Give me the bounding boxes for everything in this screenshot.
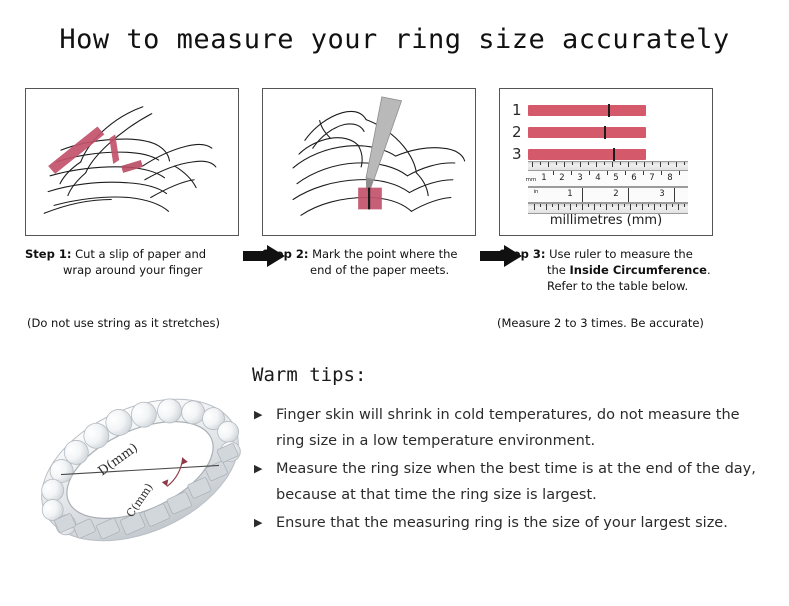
step-2-label: Step 2: <box>262 247 308 261</box>
paper-strip <box>528 127 646 138</box>
strip-mark <box>613 148 615 161</box>
step-3-label: Step 3: <box>499 247 545 261</box>
ruler-cm-tick: 1 <box>541 173 546 183</box>
strip-number: 2 <box>512 123 528 141</box>
ruler-cm-tick: 3 <box>577 173 582 183</box>
ruler-cm-tick: 2 <box>559 173 564 183</box>
step-2-column: Step 2: Mark the point where the end of … <box>262 88 478 278</box>
step-3-line2-suffix: . <box>707 263 711 277</box>
step-3-panel: 1 2 3 <box>499 88 713 236</box>
ring-diagram: D(mm) C(mm) <box>24 358 256 582</box>
step-2-caption: Step 2: Mark the point where the end of … <box>262 246 478 278</box>
step-1-line1: Cut a slip of paper and <box>75 247 206 261</box>
ruler-graphic: mm 1 2 3 4 5 6 7 8 <box>528 161 688 214</box>
bullet-icon: ▶ <box>254 402 262 428</box>
ruler-cm-tick: 7 <box>649 173 654 183</box>
step-3-line1: Use ruler to measure the <box>549 247 693 261</box>
tip-text: Measure the ring size when the best time… <box>276 461 756 503</box>
ruler-inch-tick: 1 <box>567 189 572 199</box>
ruler-inch-band: in 1 2 3 <box>528 187 688 203</box>
steps-row: Step 1: Cut a slip of paper and wrap aro… <box>0 88 789 348</box>
step-1-panel <box>25 88 239 236</box>
measure-illustration: 1 2 3 <box>500 89 712 235</box>
strip-row: 2 <box>512 123 646 141</box>
ruler-cm-tick: 8 <box>667 173 672 183</box>
tip-item: ▶ Measure the ring size when the best ti… <box>252 456 772 508</box>
step-3-note: (Measure 2 to 3 times. Be accurate) <box>497 316 704 330</box>
bullet-icon: ▶ <box>254 510 262 536</box>
inside-circumference-term: Inside Circumference <box>570 263 707 277</box>
ruler-cm-tick: 5 <box>613 173 618 183</box>
step-3-caption: Step 3: Use ruler to measure the the Ins… <box>499 246 715 294</box>
ruler-inch-tick: 2 <box>613 189 618 199</box>
page-title: How to measure your ring size accurately <box>0 24 789 55</box>
ruler-unit-label: in <box>533 189 538 195</box>
strip-row: 1 <box>512 101 646 119</box>
hand-marking-paper-illustration <box>263 89 475 235</box>
strip-number: 1 <box>512 101 528 119</box>
ruler-top-band <box>528 161 688 171</box>
step-3-line2-prefix: the <box>547 263 570 277</box>
tip-item: ▶ Finger skin will shrink in cold temper… <box>252 402 772 454</box>
ring-illustration: D(mm) C(mm) <box>24 358 256 582</box>
step-2-panel <box>262 88 476 236</box>
step-1-caption: Step 1: Cut a slip of paper and wrap aro… <box>25 246 241 278</box>
ruler-cm-tick: 4 <box>595 173 600 183</box>
paper-strip <box>528 149 646 160</box>
ruler-inch-tick: 3 <box>659 189 664 199</box>
warm-tips-block: Warm tips: ▶ Finger skin will shrink in … <box>252 364 772 538</box>
step-3-line3: Refer to the table below. <box>499 278 715 294</box>
step-2-line1: Mark the point where the <box>312 247 457 261</box>
ruler-cm-tick: 6 <box>631 173 636 183</box>
step-1-column: Step 1: Cut a slip of paper and wrap aro… <box>25 88 241 278</box>
step-3-line2: the Inside Circumference. <box>499 262 715 278</box>
paper-strip <box>528 105 646 116</box>
step-3-column: 1 2 3 <box>499 88 715 294</box>
bottom-section: D(mm) C(mm) Warm tips: ▶ Finger skin wil… <box>0 350 789 606</box>
step-2-line2: end of the paper meets. <box>262 262 478 278</box>
bullet-icon: ▶ <box>254 456 262 482</box>
paper-strip-shape <box>358 188 382 210</box>
pen-shape <box>366 97 402 192</box>
ruler-unit-label: mm <box>526 177 537 183</box>
step-1-note: (Do not use string as it stretches) <box>27 316 220 330</box>
strip-mark <box>604 126 606 139</box>
strip-mark <box>608 104 610 117</box>
step-1-line2: wrap around your finger <box>25 262 241 278</box>
ruler-cm-band: mm 1 2 3 4 5 6 7 8 <box>528 171 688 187</box>
strip-number: 3 <box>512 145 528 163</box>
hand-with-paper-strip-illustration <box>26 89 238 235</box>
warm-tips-title: Warm tips: <box>252 364 772 386</box>
step-1-label: Step 1: <box>25 247 71 261</box>
tip-text: Ensure that the measuring ring is the si… <box>276 515 728 531</box>
millimetres-caption: millimetres (mm) <box>500 213 712 228</box>
tip-item: ▶ Ensure that the measuring ring is the … <box>252 510 772 536</box>
tip-text: Finger skin will shrink in cold temperat… <box>276 407 740 449</box>
